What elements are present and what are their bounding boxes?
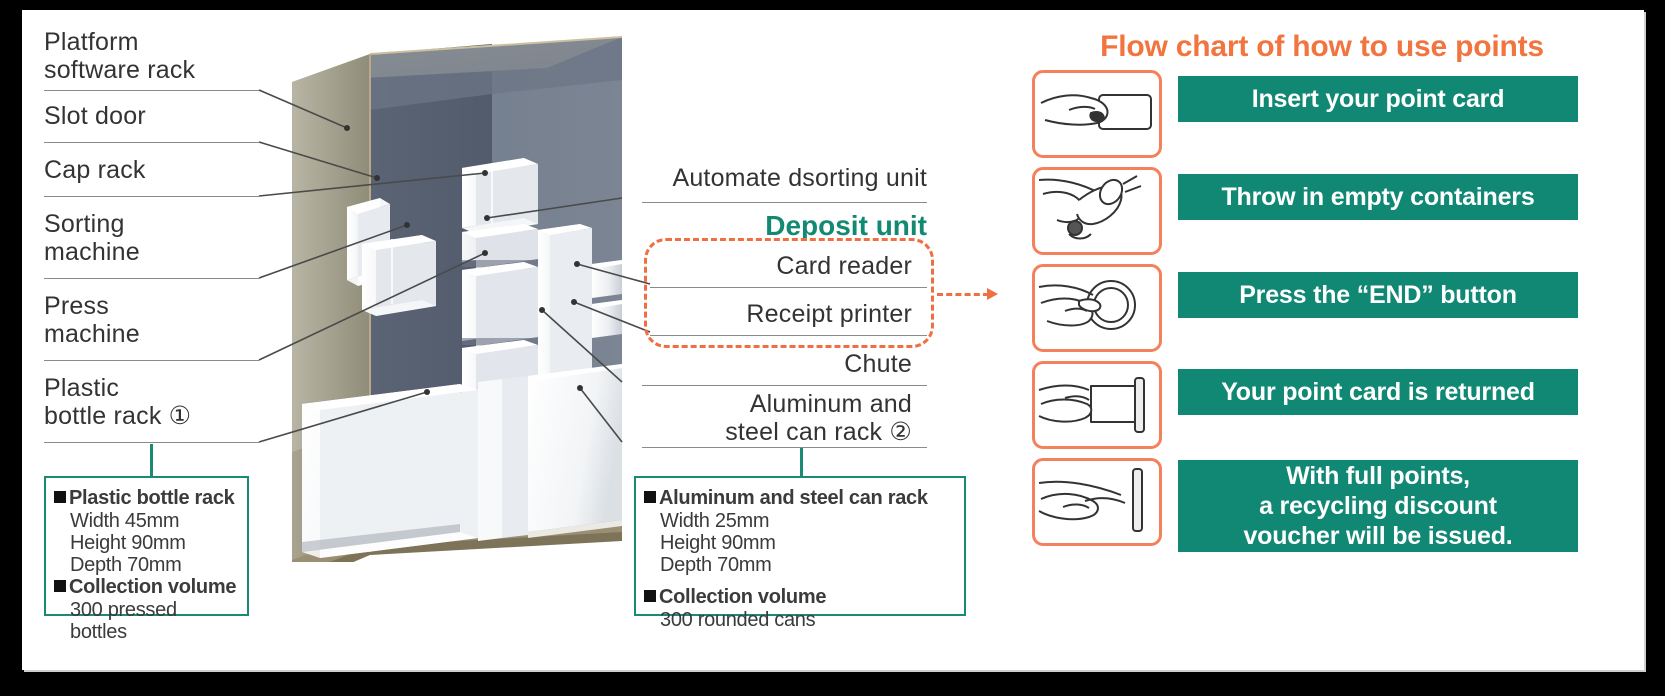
bullet-square-icon bbox=[54, 580, 66, 592]
thumb-hand-inserting-card-icon bbox=[1032, 70, 1162, 158]
callout-aluminum-steel-can-rack: Aluminum and steel can rack ② bbox=[582, 390, 912, 446]
flow-chart-panel: Flow chart of how to use points Insert y… bbox=[1002, 10, 1644, 670]
spec-line: Width 45mm bbox=[54, 510, 237, 532]
spec-line: 300 pressed bbox=[54, 599, 237, 621]
spec-left-stem bbox=[150, 444, 153, 476]
flow-step-2-label: Throw in empty containers bbox=[1178, 174, 1578, 220]
thumb-hand-taking-card-icon bbox=[1032, 361, 1162, 449]
thumb-hand-taking-voucher-icon bbox=[1032, 458, 1162, 546]
flow-chart-title: Flow chart of how to use points bbox=[1012, 30, 1632, 64]
spec-box-aluminum-steel-can-rack: Aluminum and steel can rack Width 25mm H… bbox=[634, 476, 966, 616]
page-sheet: Platform software rack Slot door Cap rac… bbox=[22, 10, 1644, 670]
flow-step-4-label: Your point card is returned bbox=[1178, 369, 1578, 415]
flow-step-1-label: Insert your point card bbox=[1178, 76, 1578, 122]
callout-rule bbox=[642, 202, 927, 203]
flow-step-5-label: With full points, a recycling discount v… bbox=[1178, 460, 1578, 552]
callout-line: steel can rack ② bbox=[582, 418, 912, 446]
callout-line: Automate dsorting unit bbox=[582, 164, 927, 192]
callout-automate-dsorting-unit: Automate dsorting unit bbox=[582, 164, 927, 192]
callout-chute: Chute bbox=[582, 350, 912, 378]
spec-line: Depth 70mm bbox=[54, 554, 237, 576]
bullet-square-icon bbox=[644, 590, 656, 602]
spec-line: bottles bbox=[54, 621, 237, 643]
spec-box-plastic-bottle-rack: Plastic bottle rack Width 45mm Height 90… bbox=[44, 476, 249, 616]
spec-header: Aluminum and steel can rack bbox=[644, 487, 954, 510]
deposit-unit-arrow-head bbox=[987, 288, 998, 300]
spec-header: Collection volume bbox=[644, 586, 954, 609]
thumb-hand-throwing-bottle-icon bbox=[1032, 167, 1162, 255]
bullet-square-icon bbox=[644, 491, 656, 503]
screenshot-root: Platform software rack Slot door Cap rac… bbox=[0, 0, 1665, 696]
callout-line: Aluminum and bbox=[582, 390, 912, 418]
deposit-unit-dashed-outline bbox=[644, 238, 934, 348]
callout-line: Chute bbox=[582, 350, 912, 378]
spec-header: Collection volume bbox=[54, 576, 237, 599]
bullet-square-icon bbox=[54, 491, 66, 503]
deposit-unit-arrow-line bbox=[937, 293, 989, 296]
machine-diagram-panel: Platform software rack Slot door Cap rac… bbox=[22, 10, 1002, 670]
spec-line: 300 rounded cans bbox=[644, 609, 954, 631]
spec-line: Height 90mm bbox=[644, 532, 954, 554]
flow-step-3-label: Press the “END” button bbox=[1178, 272, 1578, 318]
spec-line: Height 90mm bbox=[54, 532, 237, 554]
thumb-hand-pressing-button-icon bbox=[1032, 264, 1162, 352]
callout-rule bbox=[642, 385, 927, 386]
spec-line: Depth 70mm bbox=[644, 554, 954, 576]
callout-rule bbox=[642, 447, 927, 448]
spec-header: Plastic bottle rack bbox=[54, 487, 237, 510]
spec-line: Width 25mm bbox=[644, 510, 954, 532]
spec-right-stem bbox=[800, 448, 803, 476]
